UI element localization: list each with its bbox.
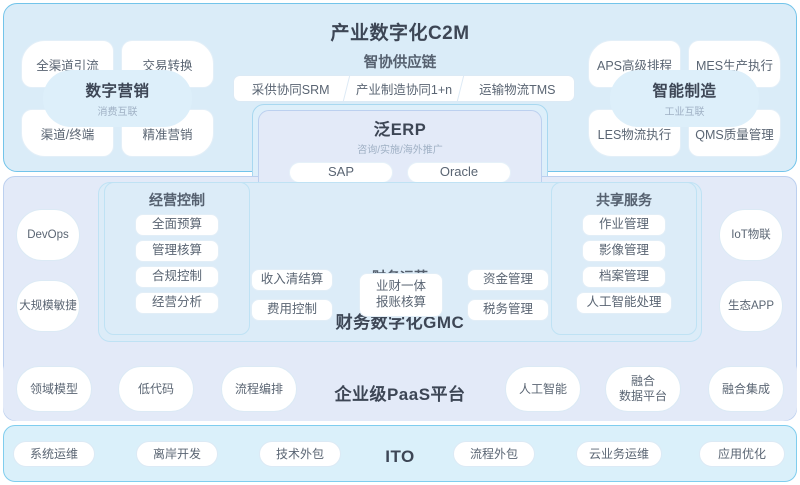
digital-marketing-subtitle: 消费互联: [98, 103, 138, 118]
ito-item-offshore[interactable]: 离岸开发: [136, 441, 218, 467]
operation-item-compliance[interactable]: 合规控制: [135, 266, 219, 288]
erp-title: 泛ERP: [374, 116, 426, 140]
supply-chain-item-manufacture[interactable]: 产业制造协同1+n: [347, 76, 460, 101]
ito-item-tech-outsourcing[interactable]: 技术外包: [259, 441, 341, 467]
smart-manufacturing-core: 智能制造 工业互联: [610, 70, 759, 127]
paas-item-domain-model[interactable]: 领域模型: [16, 366, 92, 412]
operation-item-accounting[interactable]: 管理核算: [135, 240, 219, 262]
ito-item-sysops[interactable]: 系统运维: [13, 441, 95, 467]
paas-item-ai[interactable]: 人工智能: [505, 366, 581, 412]
side-item-ecoapp[interactable]: 生态APP: [719, 280, 783, 332]
operation-control-panel: 经营控制 全面预算 管理核算 合规控制 经营分析: [104, 182, 250, 335]
finance-item-integrated-line2: 报账核算: [376, 295, 426, 311]
smart-manufacturing-cluster: APS高级排程 MES生产执行 LES物流执行 QMS质量管理 智能制造 工业互…: [588, 40, 781, 157]
operation-item-budget[interactable]: 全面预算: [135, 214, 219, 236]
paas-item-lowcode[interactable]: 低代码: [118, 366, 194, 412]
shared-item-job[interactable]: 作业管理: [582, 214, 666, 236]
side-item-agile[interactable]: 大规模敏捷: [16, 280, 80, 332]
digital-marketing-core: 数字营销 消费互联: [43, 70, 192, 127]
finance-item-revenue[interactable]: 收入清结算: [251, 269, 333, 291]
shared-service-panel: 共享服务 作业管理 影像管理 档案管理 人工智能处理: [551, 182, 697, 335]
finance-item-tax[interactable]: 税务管理: [467, 299, 549, 321]
finance-item-integrated-line1: 业财一体: [376, 279, 426, 295]
architecture-diagram: 产业数字化C2M 智协供应链 采供协同SRM 产业制造协同1+n 运输物流TMS…: [0, 0, 800, 485]
operation-item-analysis[interactable]: 经营分析: [135, 292, 219, 314]
operation-control-title: 经营控制: [105, 190, 249, 210]
supply-chain-pill-group: 采供协同SRM 产业制造协同1+n 运输物流TMS: [233, 75, 575, 102]
ito-item-process-outsourcing[interactable]: 流程外包: [453, 441, 535, 467]
erp-vendor-oracle[interactable]: Oracle: [407, 162, 511, 183]
erp-subtitle: 咨询/实施/海外推广: [357, 141, 443, 156]
digital-marketing-title: 数字营销: [85, 79, 149, 101]
shared-item-archive[interactable]: 档案管理: [582, 266, 666, 288]
side-item-devops[interactable]: DevOps: [16, 209, 80, 261]
smart-manufacturing-subtitle: 工业互联: [665, 103, 705, 118]
side-item-iot[interactable]: IoT物联: [719, 209, 783, 261]
paas-item-data-platform[interactable]: 融合 数据平台: [605, 366, 681, 412]
ito-title: ITO: [0, 447, 800, 467]
paas-item-data-platform-line1: 融合: [631, 374, 655, 389]
shared-service-title: 共享服务: [552, 190, 696, 210]
paas-item-process-orchestration[interactable]: 流程编排: [221, 366, 297, 412]
finance-item-fund[interactable]: 资金管理: [467, 269, 549, 291]
finance-item-expense[interactable]: 费用控制: [251, 299, 333, 321]
paas-item-integration[interactable]: 融合集成: [708, 366, 784, 412]
paas-item-data-platform-line2: 数据平台: [619, 389, 667, 404]
ito-item-app-optimization[interactable]: 应用优化: [699, 441, 785, 467]
smart-manufacturing-title: 智能制造: [652, 79, 716, 101]
finance-item-integrated[interactable]: 业财一体 报账核算: [359, 273, 443, 317]
erp-vendor-sap[interactable]: SAP: [289, 162, 393, 183]
ito-item-cloud-ops[interactable]: 云业务运维: [576, 441, 662, 467]
supply-chain-item-tms[interactable]: 运输物流TMS: [461, 76, 574, 101]
supply-chain-item-srm[interactable]: 采供协同SRM: [234, 76, 347, 101]
digital-marketing-cluster: 全渠道引流 交易转换 渠道/终端 精准营销 数字营销 消费互联: [21, 40, 214, 157]
shared-item-image[interactable]: 影像管理: [582, 240, 666, 262]
shared-item-ai[interactable]: 人工智能处理: [576, 292, 672, 314]
